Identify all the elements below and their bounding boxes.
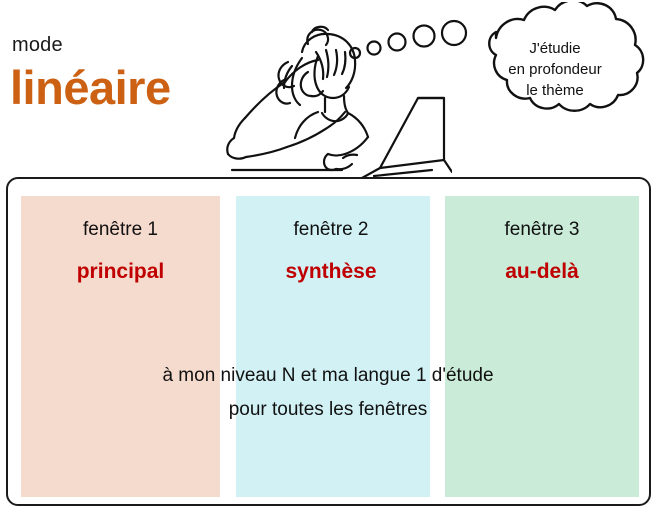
thought-line-2: en profondeur xyxy=(508,59,601,80)
window-panel-1[interactable] xyxy=(21,196,220,497)
footer-note: à mon niveau N et ma langue 1 d'étude po… xyxy=(8,359,648,427)
window-1-subtitle: principal xyxy=(21,260,220,284)
footer-note-line-1: à mon niveau N et ma langue 1 d'étude xyxy=(8,359,648,393)
window-panel-3[interactable] xyxy=(445,196,639,497)
thought-line-3: le thème xyxy=(526,80,584,101)
footer-note-line-2: pour toutes les fenêtres xyxy=(8,393,648,427)
thought-line-1: J'étudie xyxy=(529,38,580,59)
window-1-title: fenêtre 1 xyxy=(21,219,220,241)
header: mode linéaire xyxy=(0,0,659,178)
window-2-subtitle: synthèse xyxy=(234,260,428,284)
window-3-title: fenêtre 3 xyxy=(445,219,639,241)
window-panel-2[interactable] xyxy=(236,196,430,497)
windows-container: fenêtre 1 principal fenêtre 2 synthèse f… xyxy=(6,177,651,506)
mode-label: mode xyxy=(12,34,63,56)
window-2-title: fenêtre 2 xyxy=(234,219,428,241)
thought-bubble-text: J'étudie en profondeur le thème xyxy=(452,2,658,132)
window-3-subtitle: au-delà xyxy=(445,260,639,284)
thought-bubble: J'étudie en profondeur le thème xyxy=(452,2,658,132)
page-title: linéaire xyxy=(10,62,171,114)
